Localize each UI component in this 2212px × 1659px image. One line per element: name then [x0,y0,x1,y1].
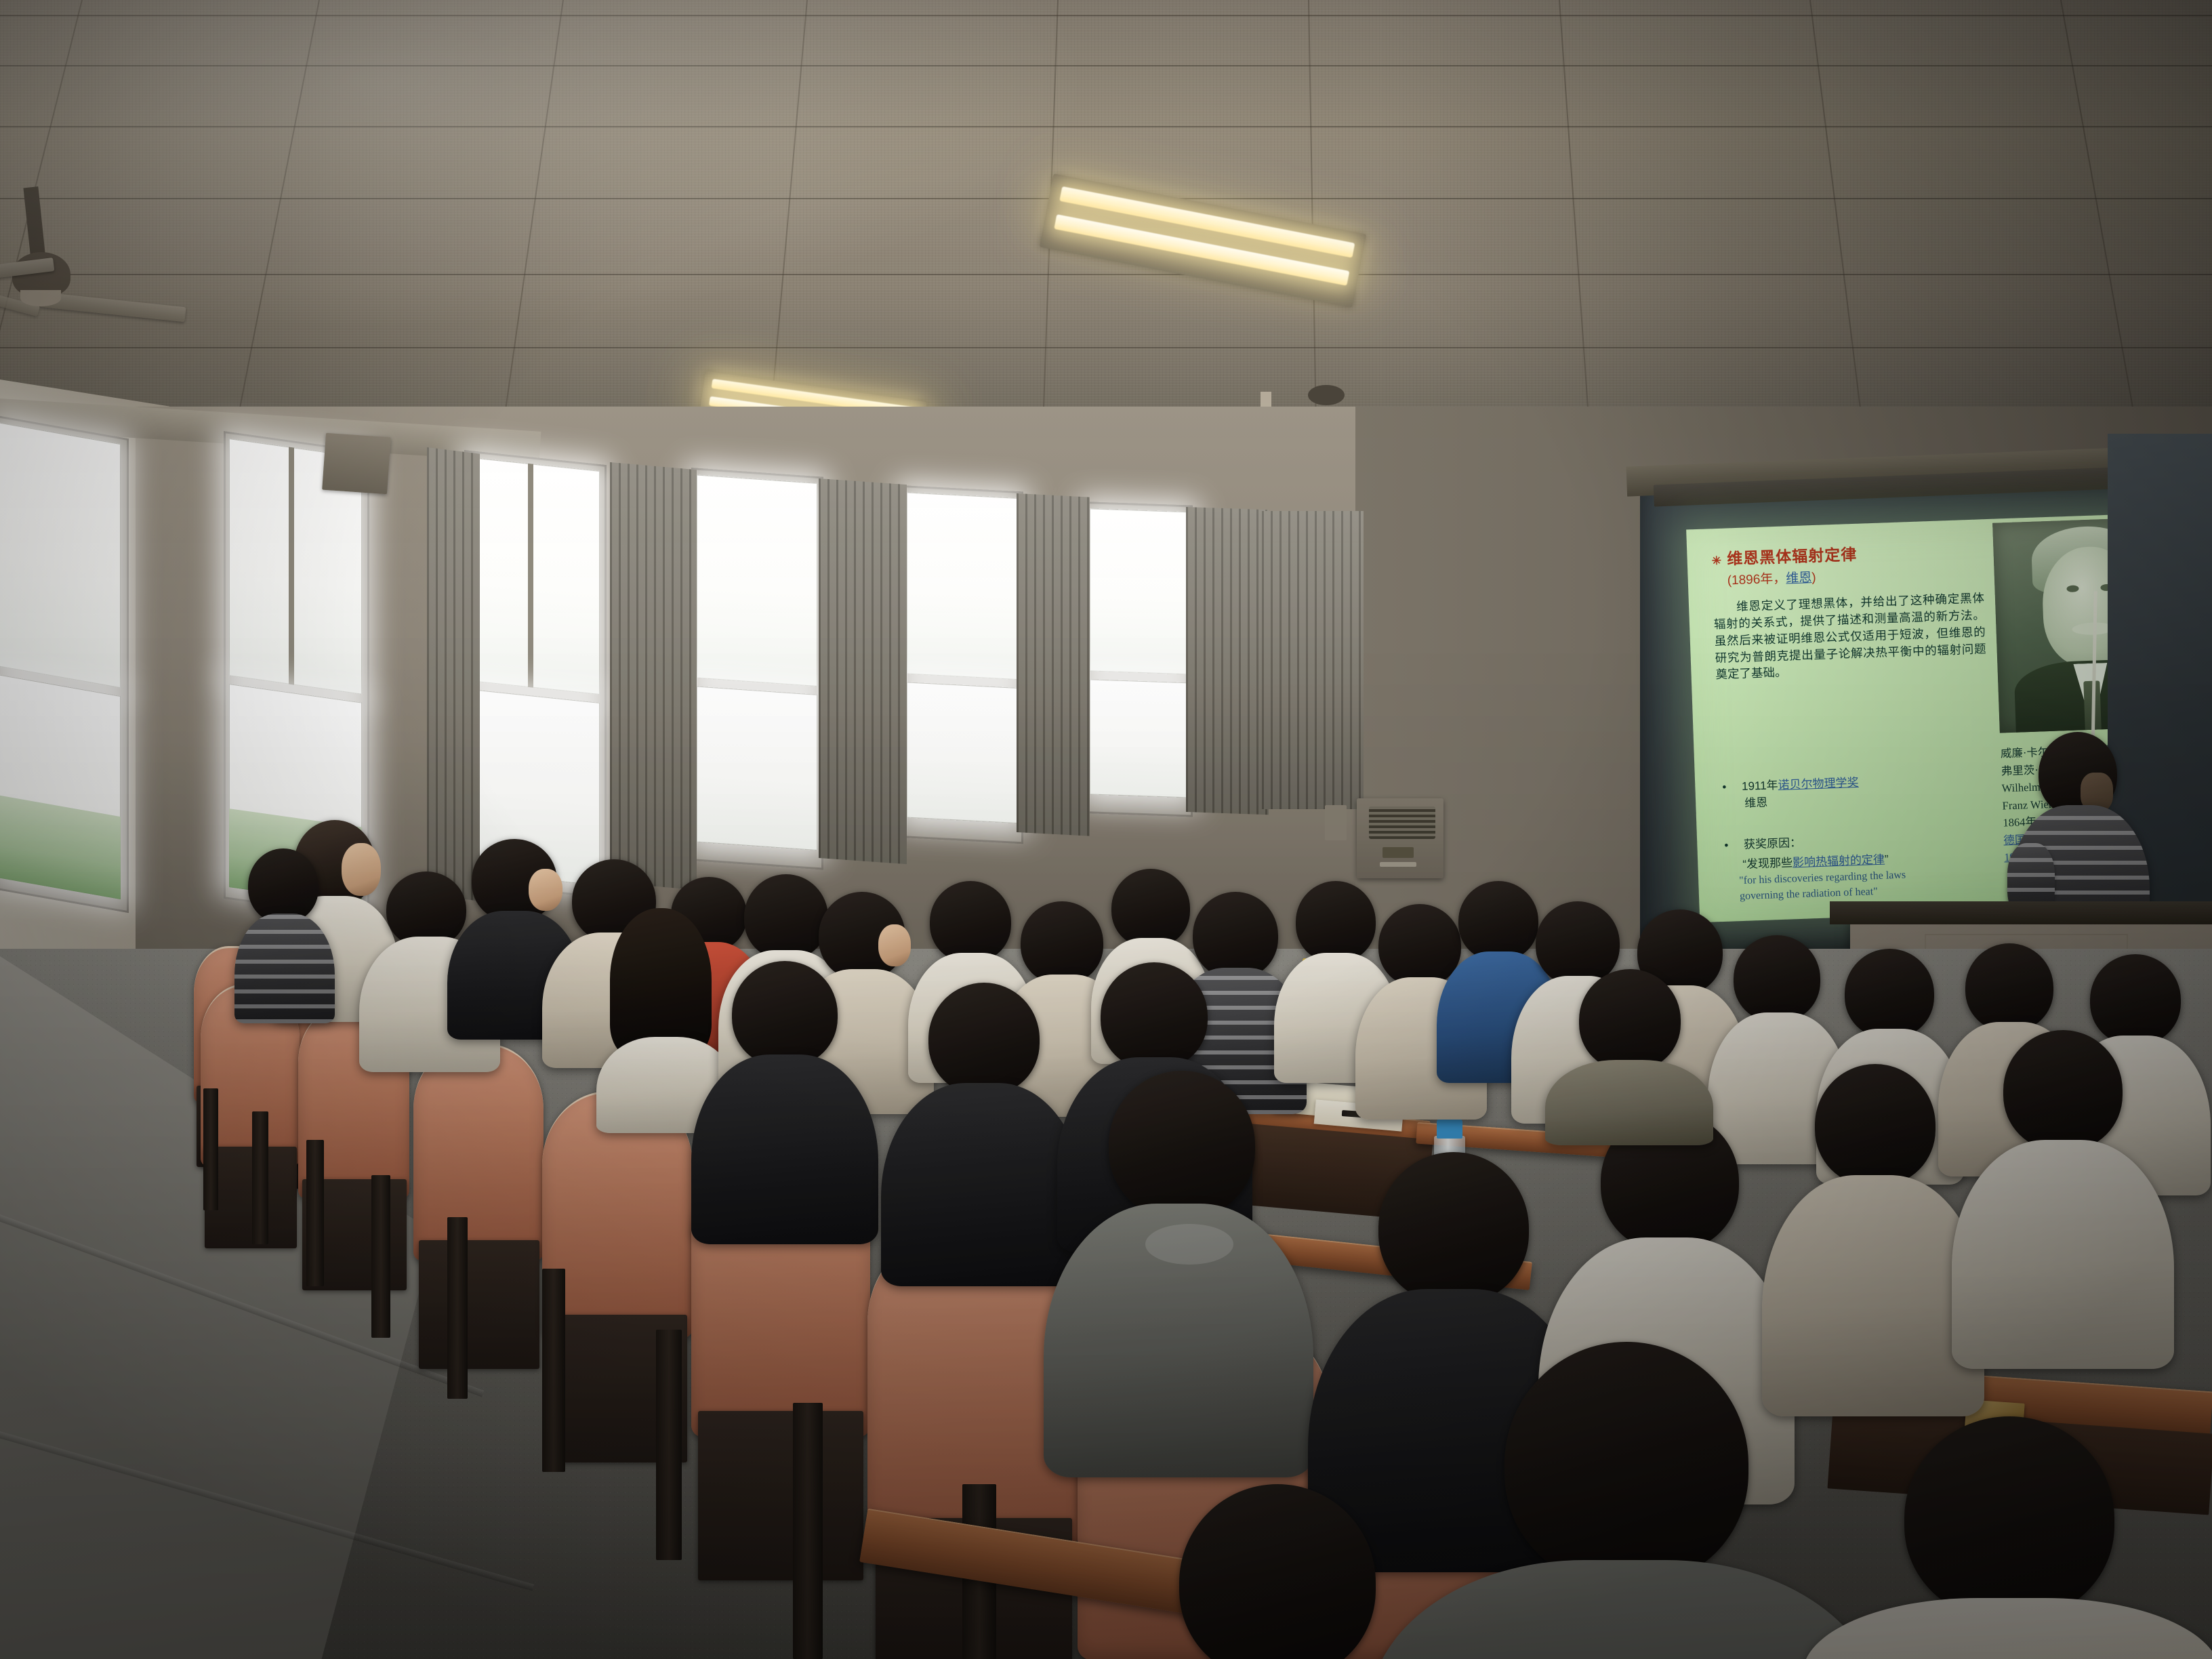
seat-leg [371,1175,390,1338]
student-head [2003,1030,2123,1151]
seat-leg [306,1140,324,1286]
slide-title: ✳ 维恩黑体辐射定律 [1711,541,1858,569]
window-frame [464,450,607,899]
window-frame [691,468,823,870]
student-torso [234,914,335,1023]
curtain [1186,507,1269,815]
wall-air-conditioner [1357,798,1443,878]
student [1098,1484,1464,1659]
window-frame [1084,501,1193,817]
student [1803,1416,2212,1659]
student [1545,969,1715,1145]
student-head [1904,1416,2114,1620]
student [234,848,336,1025]
window-pane [907,682,1018,823]
student [691,961,881,1246]
slide-body-paragraph: 维恩定义了理想黑体，并给出了这种确定黑体辐射的关系式，提供了描述和测量高温的新方… [1713,590,1987,683]
podium-top-surface [1830,901,2212,924]
slide-subtitle: (1896年，维恩) [1727,567,1816,589]
student-head [1965,943,2053,1031]
slide-bullet-2: • 获奖原因： “发现那些影响热辐射的定律” "for his discover… [1724,832,1906,905]
window-frame [0,415,129,913]
student-head [928,983,1040,1095]
student-head [732,961,838,1067]
seat-leg [793,1403,823,1659]
window-pane [0,422,121,688]
window-mullion [289,447,294,684]
student-torso [1545,1060,1713,1145]
student-face [878,924,911,966]
window-pane [1090,679,1187,798]
seat-unit[interactable] [413,1044,546,1376]
student [1952,1030,2175,1369]
student-torso [691,1054,878,1244]
student-torso [1952,1140,2174,1369]
student-head [1101,962,1208,1069]
seat-leg [203,1088,218,1210]
curtain [427,447,480,901]
student-head [248,848,319,923]
student-head [1179,1484,1376,1659]
curtain [610,462,697,890]
bottle-cap [1437,1118,1462,1139]
window-frame [901,485,1023,844]
ac-logo [1380,862,1416,867]
seat-leg [447,1217,468,1399]
seat-leg [656,1330,682,1560]
student-head [1815,1064,1935,1186]
student-torso [1803,1598,2212,1659]
student-head [1109,1071,1255,1218]
slide-bullet-1: • 1911年诺贝尔物理学奖 维恩 [1722,775,1860,813]
lecture-hall-photograph: ✳ 维恩黑体辐射定律 (1896年，维恩) 维恩定义了理想黑体，并给出了这种确定… [0,0,2212,1659]
student-collar [1145,1224,1233,1265]
window-pane [697,475,817,687]
student-head [1845,949,1934,1038]
curtain [1262,511,1364,809]
curtain [1017,493,1090,836]
curtain [819,478,907,864]
ac-display [1382,847,1414,858]
window-pane [1090,508,1187,674]
ac-wall-controller [1325,805,1347,840]
ac-grille [1369,806,1435,839]
window-pane [470,457,600,695]
seat-leg [252,1111,268,1244]
seat-leg [542,1269,565,1472]
student-head [1504,1342,1748,1586]
student-head [1579,969,1681,1071]
wall-speaker [322,433,391,494]
window-pane [697,687,817,851]
window-mullion [528,464,533,688]
student [1044,1071,1315,1477]
window-pane [907,492,1018,680]
student-head [1734,935,1820,1022]
student-head [1378,1152,1529,1304]
